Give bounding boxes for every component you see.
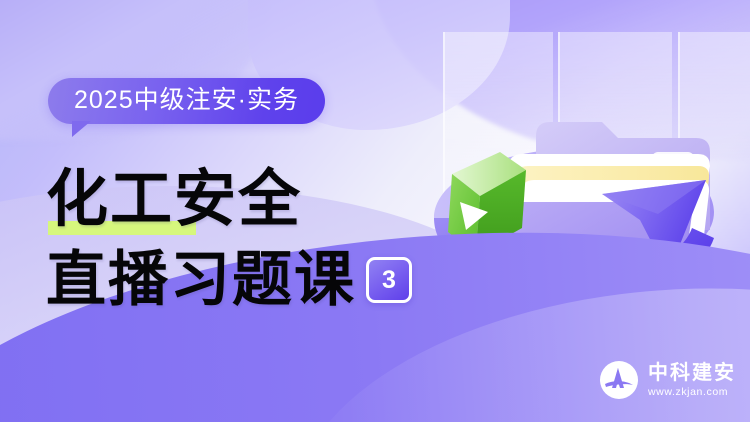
brand-website: www.zkjan.com (648, 385, 736, 399)
brand-name: 中科建安 (648, 361, 736, 383)
title-line-1: 化工安全 (46, 162, 302, 235)
course-badge: 2025中级注安·实务 (48, 78, 325, 124)
logo-mark-icon (599, 360, 639, 400)
page-title: 化工安全 直播习题课3 (46, 160, 412, 320)
episode-number-badge: 3 (366, 257, 412, 303)
brand-logo: 中科建安 www.zkjan.com (599, 360, 736, 400)
logo-text: 中科建安 www.zkjan.com (648, 361, 736, 399)
course-promo-banner: 2025中级注安·实务 化工安全 直播习题课3 中科建安 www.zkjan.c… (0, 0, 750, 422)
title-line-2: 直播习题课 (46, 245, 356, 315)
course-badge-tail (72, 121, 91, 137)
title-line-2-row: 直播习题课3 (46, 244, 412, 320)
title-line-1-row: 化工安全 (46, 160, 412, 242)
course-badge-label: 2025中级注安·实务 (48, 78, 325, 124)
